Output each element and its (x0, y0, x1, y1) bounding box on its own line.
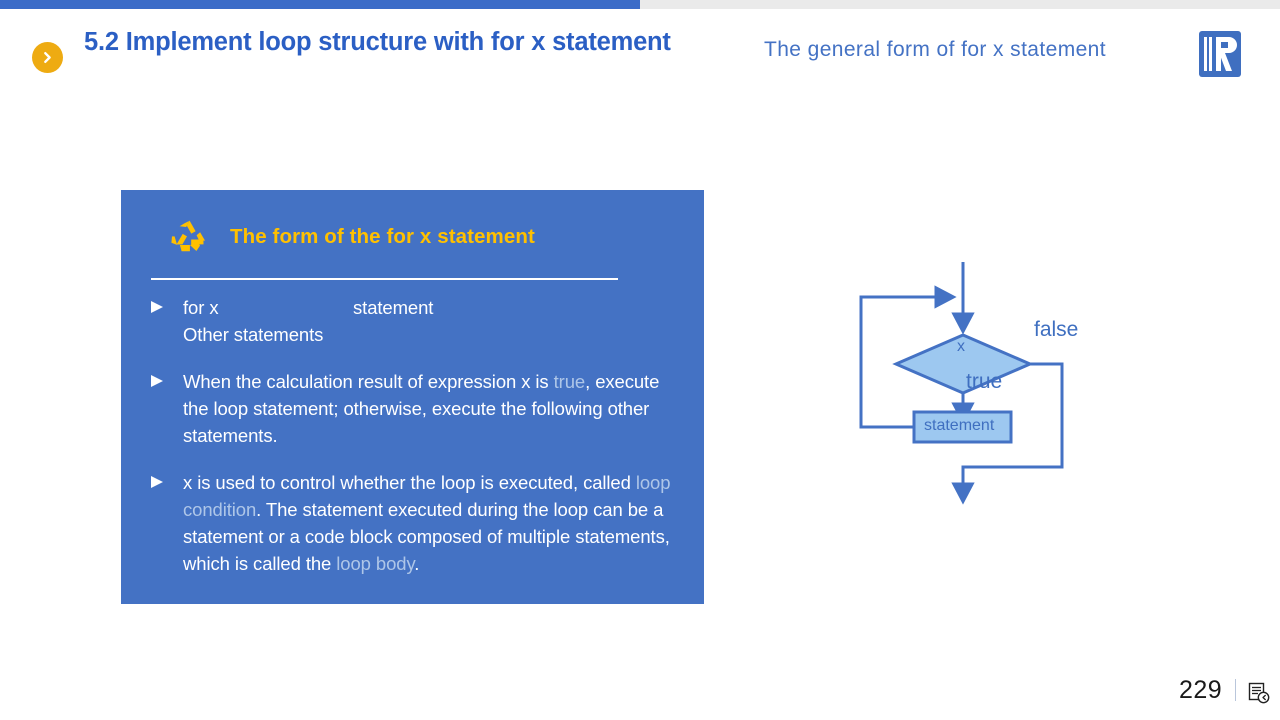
bullet-3-seg-0: x is used to control whether the loop is… (183, 472, 636, 493)
footer-divider (1235, 679, 1236, 701)
page-number: 229 (1179, 676, 1222, 705)
triangle-bullet-icon (151, 476, 163, 488)
slide-root: 5.2 Implement loop structure with for x … (0, 0, 1280, 720)
progress-bar-fill (0, 0, 640, 9)
recycle-icon (170, 218, 210, 256)
bullet-list: for x statement Other statements When th… (151, 294, 679, 577)
bullet-1-keyword: for x (183, 294, 353, 321)
bullet-2-seg-0: When the calculation result of expressio… (183, 371, 554, 392)
bullet-3-seg-4: . (414, 553, 419, 574)
progress-bar-track[interactable] (0, 0, 1280, 9)
panel-header: The form of the for x statement (170, 218, 535, 256)
book-r-logo-icon (1199, 31, 1241, 77)
flow-edge-label-false: false (1034, 318, 1078, 342)
bullet-1-text: for x statement Other statements (183, 294, 433, 348)
flowchart-diagram: false true x statement (840, 250, 1140, 520)
bullet-3-text: x is used to control whether the loop is… (183, 469, 679, 577)
page-subtitle: The general form of for x statement (764, 38, 1106, 62)
list-item: for x statement Other statements (151, 294, 679, 348)
flow-process-label: statement (924, 417, 994, 435)
list-item: x is used to control whether the loop is… (151, 469, 679, 577)
panel-divider (151, 278, 618, 280)
bullet-2-seg-1: true (554, 371, 585, 392)
document-back-icon[interactable] (1248, 682, 1270, 704)
triangle-bullet-icon (151, 375, 163, 387)
bullet-3-seg-3: loop body (336, 553, 414, 574)
triangle-bullet-icon (151, 301, 163, 313)
list-item: When the calculation result of expressio… (151, 368, 679, 449)
panel-heading: The form of the for x statement (230, 225, 535, 249)
flow-edge-label-true: true (966, 370, 1002, 394)
bullet-3-seg-2: . The statement executed during the loop… (183, 499, 670, 574)
bullet-1-line2: Other statements (183, 324, 323, 345)
content-panel: The form of the for x statement for x st… (121, 190, 704, 604)
flow-decision-label: x (957, 338, 965, 356)
bullet-1-statement: statement (353, 294, 433, 321)
page-title: 5.2 Implement loop structure with for x … (84, 28, 671, 57)
chevron-right-icon[interactable] (32, 42, 63, 73)
bullet-2-text: When the calculation result of expressio… (183, 368, 679, 449)
